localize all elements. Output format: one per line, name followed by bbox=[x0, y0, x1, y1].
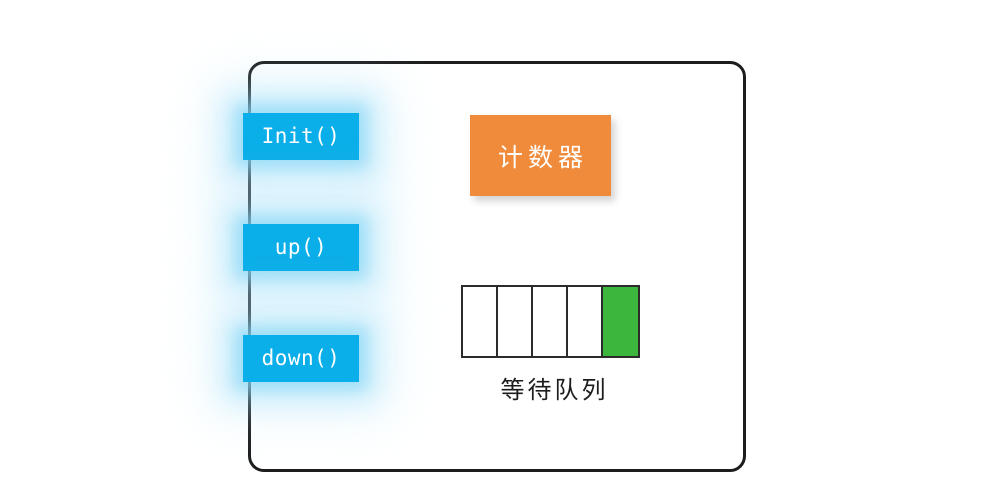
queue-cell bbox=[498, 287, 533, 356]
queue-cell bbox=[533, 287, 568, 356]
waiting-queue-caption: 等待队列 bbox=[461, 370, 645, 405]
api-box-down[interactable]: down() bbox=[243, 335, 359, 382]
counter-label: 计数器 bbox=[493, 138, 588, 174]
api-box-init[interactable]: Init() bbox=[243, 113, 359, 160]
counter-block: 计数器 bbox=[470, 115, 611, 196]
api-box-up-label: up() bbox=[275, 237, 328, 258]
api-box-init-label: Init() bbox=[262, 126, 341, 147]
queue-cell-row bbox=[461, 285, 640, 358]
queue-cell bbox=[463, 287, 498, 356]
queue-cell-filled bbox=[603, 287, 638, 356]
waiting-queue bbox=[461, 285, 640, 358]
queue-cell bbox=[568, 287, 603, 356]
api-box-up[interactable]: up() bbox=[243, 224, 359, 271]
diagram-canvas: Init() up() down() 计数器 等待队列 bbox=[0, 0, 1000, 495]
api-box-down-label: down() bbox=[262, 348, 341, 369]
